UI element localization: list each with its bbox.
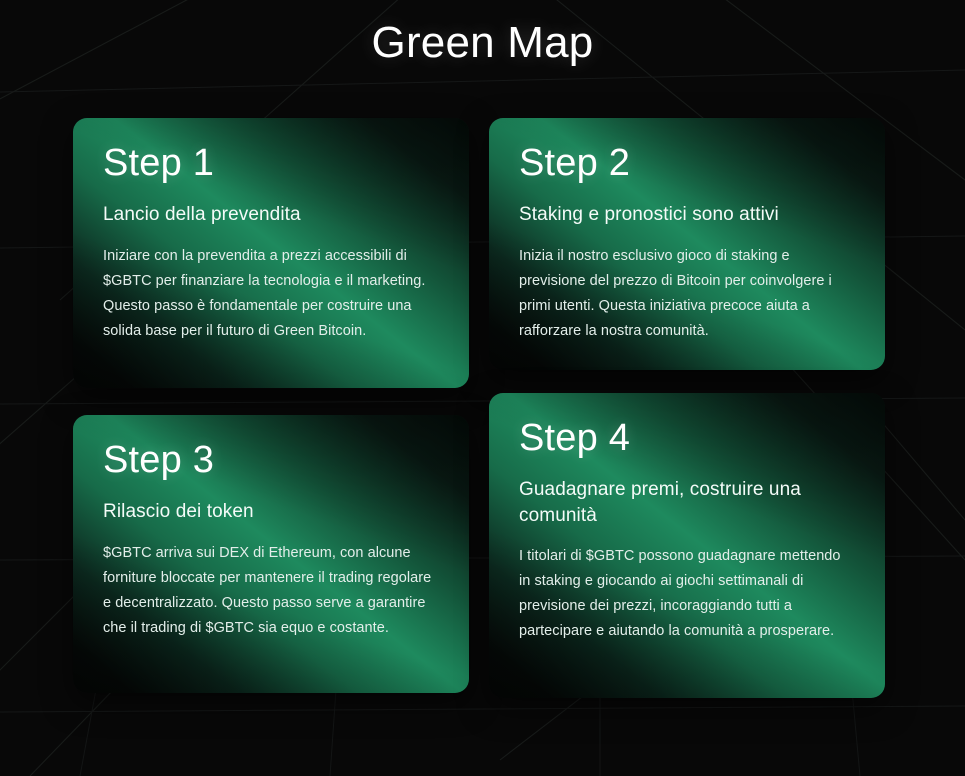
step-card-4-label: Step 4 xyxy=(519,419,855,459)
step-card-4[interactable]: Step 4 Guadagnare premi, costruire una c… xyxy=(489,393,885,698)
steps-grid: Step 1 Lancio della prevendita Iniziare … xyxy=(73,118,885,698)
step-card-2-heading: Staking e pronostici sono attivi xyxy=(519,202,855,228)
step-card-1-label: Step 1 xyxy=(103,144,439,184)
step-card-2[interactable]: Step 2 Staking e pronostici sono attivi … xyxy=(489,118,885,370)
step-card-3-body: $GBTC arriva sui DEX di Ethereum, con al… xyxy=(103,541,439,641)
page-title: Green Map xyxy=(0,0,965,70)
step-card-3[interactable]: Step 3 Rilascio dei token $GBTC arriva s… xyxy=(73,415,469,693)
step-card-3-heading: Rilascio dei token xyxy=(103,499,439,525)
step-card-1-body: Iniziare con la prevendita a prezzi acce… xyxy=(103,244,439,344)
step-card-4-body: I titolari di $GBTC possono guadagnare m… xyxy=(519,544,855,644)
step-card-2-label: Step 2 xyxy=(519,144,855,184)
step-card-4-heading: Guadagnare premi, costruire una comunità xyxy=(519,477,855,528)
green-map-page: Green Map Step 1 Lancio della prevendita… xyxy=(0,0,965,776)
step-card-2-body: Inizia il nostro esclusivo gioco di stak… xyxy=(519,244,855,344)
step-card-1[interactable]: Step 1 Lancio della prevendita Iniziare … xyxy=(73,118,469,388)
step-card-1-heading: Lancio della prevendita xyxy=(103,202,439,228)
step-card-3-label: Step 3 xyxy=(103,441,439,481)
